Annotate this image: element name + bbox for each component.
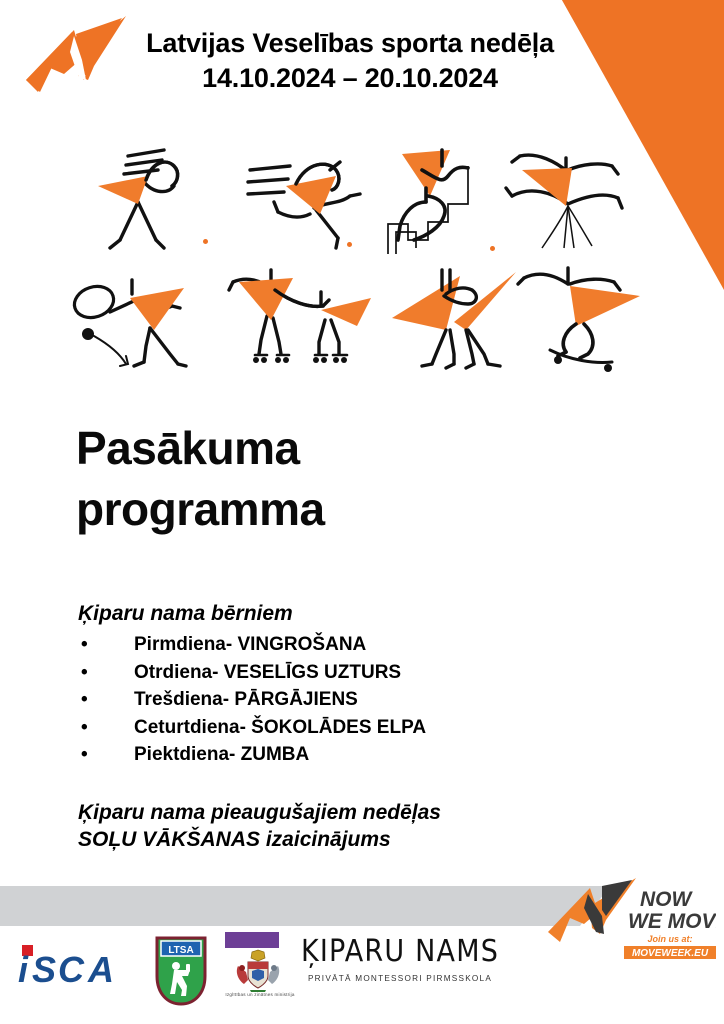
ltsa-logo: LTSA (152, 932, 210, 1008)
gymnastics-pictogram (504, 140, 629, 260)
poster-header-title: Latvijas Veselības sporta nedēļa 14.10.2… (130, 26, 570, 95)
ministry-caption: Izglītības un zinātnes ministrija (222, 992, 298, 999)
nowwemove-arrow-logo (22, 14, 130, 100)
nwm-url: MOVEWEEK.EU (632, 948, 709, 959)
list-item: • Pirmdiena- VINGROŠANA (78, 631, 638, 659)
page-title-line-2: programma (76, 479, 596, 540)
list-item: • Ceturtdiena- ŠOKOLĀDES ELPA (78, 714, 638, 742)
pictogram-board (52, 126, 652, 384)
list-item-label: Pirmdiena- VINGROŠANA (134, 634, 366, 655)
svg-text:C: C (58, 949, 85, 988)
bullet-glyph: • (81, 631, 88, 659)
latvia-ministry-logo: Izglītības un zinātnes ministrija (222, 928, 302, 1014)
nwm-join-label: Join us at: (647, 934, 692, 944)
poster-canvas: Latvijas Veselības sporta nedēļa 14.10.2… (0, 0, 724, 1024)
children-program-heading: Ķiparu nama bērniem (78, 600, 638, 627)
tennis-pictogram (68, 262, 203, 372)
nowwemove-footer-logo: NOW WE MOVE Join us at: MOVEWEEK.EU (544, 876, 716, 960)
roller-skating-pictogram (227, 254, 377, 372)
bullet-glyph: • (81, 686, 88, 714)
adults-program-line-2: SOĻU VĀKŠANAS izaicinājums (78, 826, 638, 853)
kiparu-nams-name: ĶIPARU NAMS (300, 934, 500, 969)
separator-dot (490, 246, 495, 251)
list-item-label: Otrdiena- VESELĪGS UZTURS (134, 662, 401, 683)
list-item-label: Piektdiena- ZUMBA (134, 744, 309, 765)
nordic-walking-pictogram (80, 136, 200, 256)
list-item: • Trešdiena- PĀRGĀJIENS (78, 686, 638, 714)
poster-footer: i S C A LTSA (0, 876, 724, 1024)
header-title-line-1: Latvijas Veselības sporta nedēļa (146, 28, 554, 58)
separator-dot (203, 239, 208, 244)
separator-dot (347, 242, 352, 247)
list-item-label: Trešdiena- PĀRGĀJIENS (134, 689, 358, 710)
kiparu-nams-subtitle: PRIVĀTĀ MONTESSORI PIRMSSKOLA (300, 974, 500, 983)
kiparu-nams-logo: ĶIPARU NAMS PRIVĀTĀ MONTESSORI PIRMSSKOL… (300, 936, 500, 983)
bullet-glyph: • (81, 741, 88, 769)
running-pictogram (244, 146, 374, 261)
dancing-pictogram (384, 252, 524, 372)
nwm-line-2: WE MOVE (628, 910, 716, 933)
skateboarding-pictogram (514, 252, 644, 372)
adults-program-line-1: Ķiparu nama pieaugušajiem nedēļas (78, 799, 638, 826)
program-section: Ķiparu nama bērniem • Pirmdiena- VINGROŠ… (78, 600, 638, 854)
partner-logo-row: i S C A LTSA (0, 928, 545, 1020)
svg-text:A: A (87, 949, 114, 988)
gray-diagonal-band (0, 886, 610, 926)
svg-text:S: S (32, 949, 56, 988)
adults-program-block: Ķiparu nama pieaugušajiem nedēļas SOĻU V… (78, 799, 638, 854)
page-title-line-1: Pasākuma (76, 418, 596, 479)
children-program-list: • Pirmdiena- VINGROŠANA • Otrdiena- VESE… (78, 631, 638, 769)
svg-text:i: i (18, 949, 29, 988)
header-title-line-2: 14.10.2024 – 20.10.2024 (130, 61, 570, 96)
stairs-climbing-pictogram (382, 136, 507, 261)
svg-text:LTSA: LTSA (168, 945, 193, 956)
list-item: • Otrdiena- VESELĪGS UZTURS (78, 659, 638, 687)
list-item: • Piektdiena- ZUMBA (78, 741, 638, 769)
page-title: Pasākuma programma (76, 418, 596, 539)
bullet-glyph: • (81, 714, 88, 742)
isca-logo: i S C A (18, 942, 138, 988)
bullet-glyph: • (81, 659, 88, 687)
list-item-label: Ceturtdiena- ŠOKOLĀDES ELPA (134, 717, 426, 738)
nwm-line-1: NOW (640, 888, 694, 911)
